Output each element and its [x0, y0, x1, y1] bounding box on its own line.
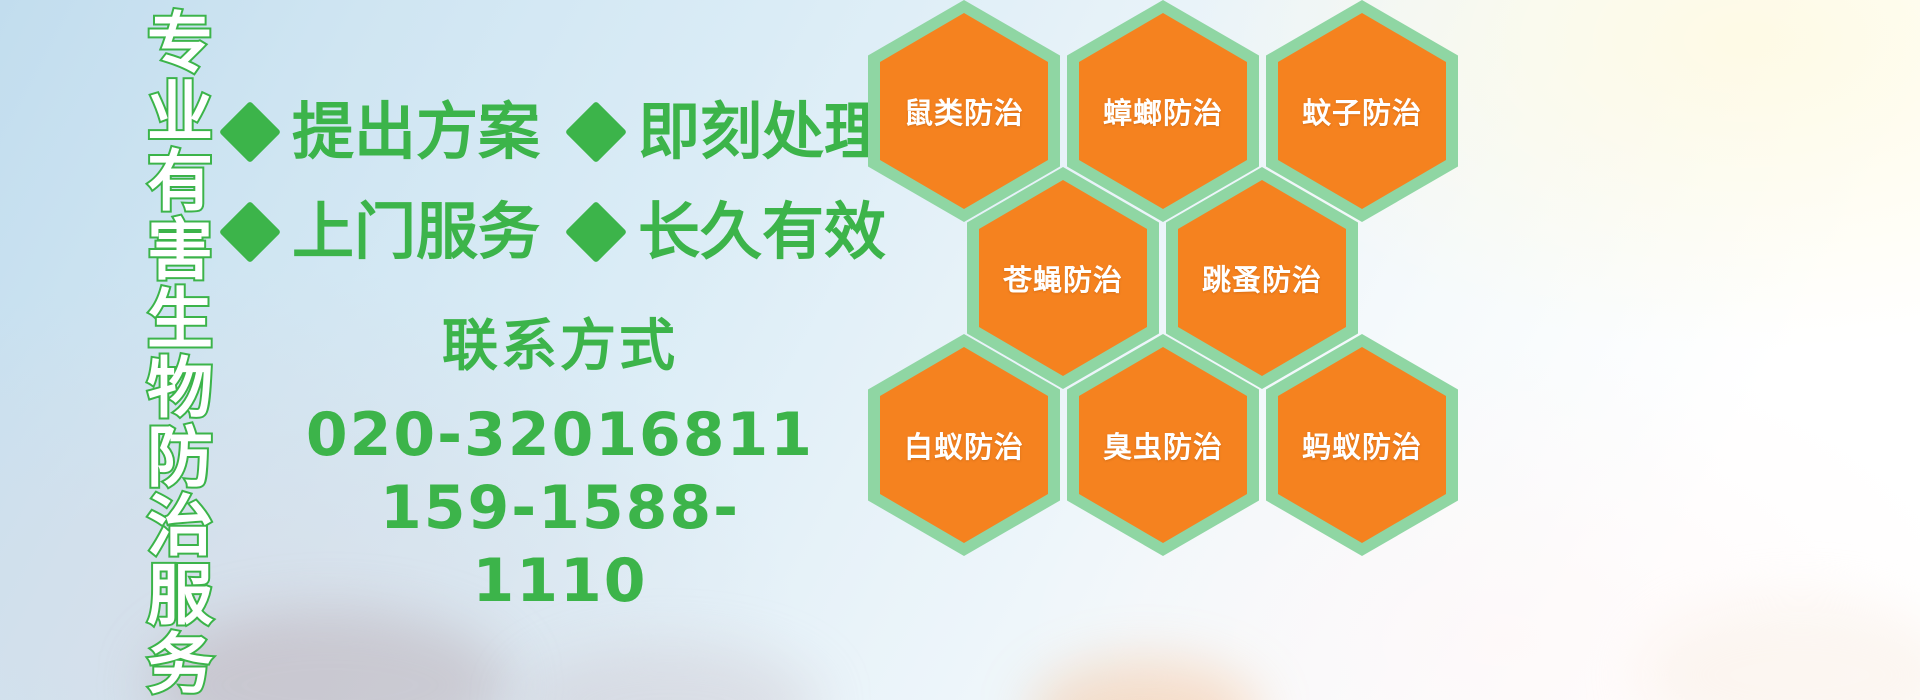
service-label: 臭虫防治	[1103, 424, 1223, 466]
feature-row: 提出方案 即刻处理	[228, 82, 868, 182]
service-label: 蚊子防治	[1302, 90, 1422, 132]
contact-phone-mobile[interactable]: 159-1588-1110	[300, 472, 820, 618]
feature-label: 上门服务	[292, 201, 540, 263]
service-label: 蚂蚁防治	[1302, 424, 1422, 466]
service-label: 蟑螂防治	[1103, 90, 1223, 132]
feature-item: 长久有效	[574, 201, 886, 263]
background-blur-blob	[520, 645, 820, 700]
feature-label: 提出方案	[292, 101, 540, 163]
feature-row: 上门服务 长久有效	[228, 182, 868, 282]
service-honeycomb: 鼠类防治 蟑螂防治 蚊子防治 苍蝇防治 跳蚤防治 白蚁防治 臭虫防治	[862, 0, 1462, 592]
feature-list: 提出方案 即刻处理 上门服务 长久有效	[228, 82, 868, 282]
feature-label: 即刻处理	[638, 101, 886, 163]
diamond-bullet-icon	[565, 101, 627, 163]
feature-item: 即刻处理	[574, 101, 886, 163]
background-blur-blob	[1030, 660, 1260, 700]
diamond-bullet-icon	[219, 101, 281, 163]
contact-block: 联系方式 020-32016811 159-1588-1110	[300, 318, 820, 618]
service-label: 鼠类防治	[904, 90, 1024, 132]
vertical-headline: 专业有害生物防治服务	[112, 8, 208, 698]
feature-item: 提出方案	[228, 101, 540, 163]
service-label: 白蚁防治	[904, 424, 1024, 466]
contact-phone-landline[interactable]: 020-32016811	[300, 399, 820, 472]
background-blur-blob	[1640, 600, 1920, 700]
diamond-bullet-icon	[565, 201, 627, 263]
service-label: 苍蝇防治	[1003, 257, 1123, 299]
service-label: 跳蚤防治	[1202, 257, 1322, 299]
feature-label: 长久有效	[638, 201, 886, 263]
feature-item: 上门服务	[228, 201, 540, 263]
contact-title: 联系方式	[300, 318, 820, 377]
pest-control-banner: 专业有害生物防治服务 提出方案 即刻处理 上门服务 长久有效 联系方式	[0, 0, 1920, 700]
diamond-bullet-icon	[219, 201, 281, 263]
